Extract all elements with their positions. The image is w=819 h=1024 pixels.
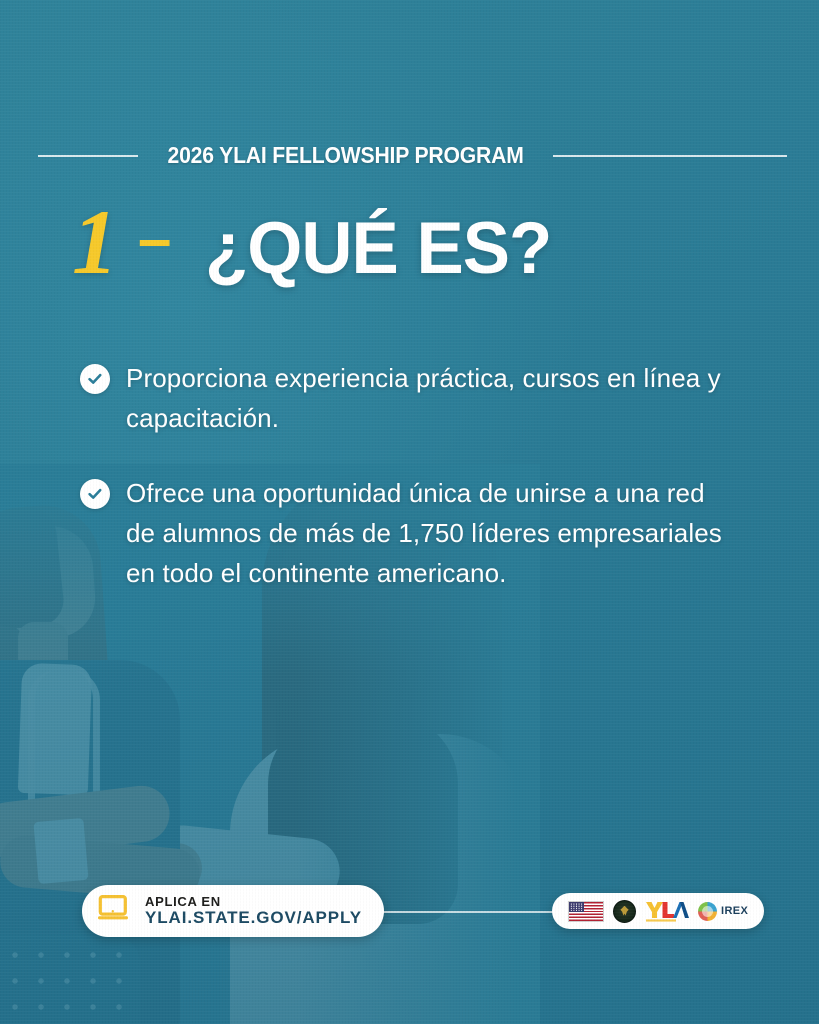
laptop-icon xyxy=(98,895,132,927)
eyebrow-rule-left xyxy=(38,155,138,157)
irex-label: IREX xyxy=(721,905,748,917)
apply-url[interactable]: YLAI.STATE.GOV/APPLY xyxy=(145,909,362,927)
title-question: ¿QUÉ ES? xyxy=(205,212,551,285)
irex-logo: IREX xyxy=(698,902,748,921)
list-item-text: Proporciona experiencia práctica, cursos… xyxy=(126,358,730,439)
bullet-list: Proporciona experiencia práctica, cursos… xyxy=(80,358,730,627)
us-flag-icon xyxy=(568,901,604,922)
poster-canvas: 2026 YLAI FELLOWSHIP PROGRAM 1 – ¿QUÉ ES… xyxy=(0,0,819,1024)
ylai-logo xyxy=(645,900,689,922)
list-item: Proporciona experiencia práctica, cursos… xyxy=(80,358,730,439)
eyebrow-rule-right xyxy=(553,155,787,157)
apply-label: APLICA EN xyxy=(145,895,362,909)
us-department-of-state-seal-icon xyxy=(613,900,636,923)
title-dash: – xyxy=(138,209,171,269)
check-circle-icon xyxy=(80,364,110,394)
list-item: Ofrece una oportunidad única de unirse a… xyxy=(80,473,730,594)
list-item-text: Ofrece una oportunidad única de unirse a… xyxy=(126,473,730,594)
apply-cta[interactable]: APLICA EN YLAI.STATE.GOV/APPLY xyxy=(82,885,384,937)
program-eyebrow: 2026 YLAI FELLOWSHIP PROGRAM xyxy=(38,142,787,169)
page-title: 1 – ¿QUÉ ES? xyxy=(72,196,562,288)
eyebrow-label: 2026 YLAI FELLOWSHIP PROGRAM xyxy=(167,142,523,169)
step-number: 1 xyxy=(72,196,120,288)
check-circle-icon xyxy=(80,479,110,509)
irex-mark-icon xyxy=(698,902,717,921)
partner-logos: IREX xyxy=(552,893,764,929)
